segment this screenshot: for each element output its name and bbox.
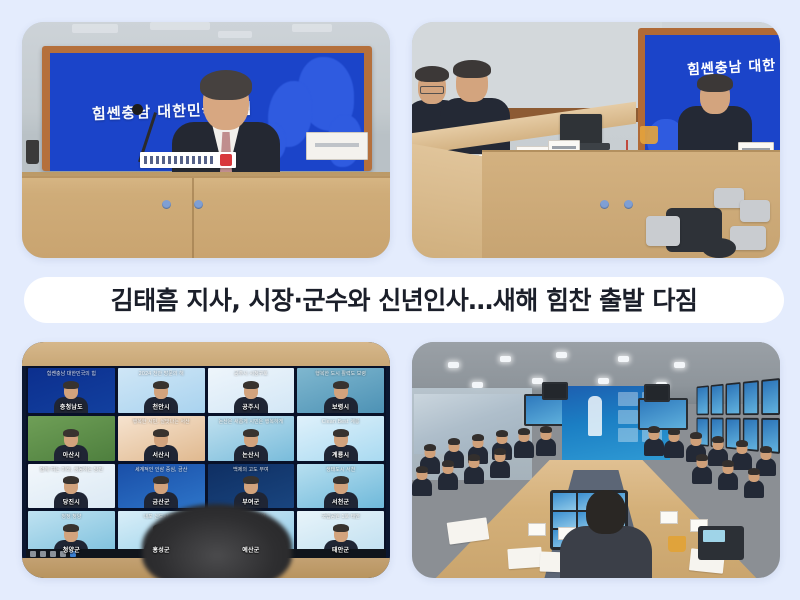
video-tile-label: 서산시 [153,450,170,459]
nameplate [306,132,368,160]
video-tile-label: 천안시 [153,402,170,411]
wall-trim-top [22,342,390,366]
nameplate [660,511,678,524]
desk-knob [162,200,171,209]
taskbar-icon[interactable] [50,551,56,557]
ceiling-panel [218,31,252,38]
video-tile-label: 아산시 [63,450,80,459]
video-tile[interactable]: 힘쎈충남 대한민국의 힘충청남도 [28,368,115,413]
video-tile-label: 예산군 [242,545,259,554]
attendee-figure [514,430,534,456]
video-tile-caption: 세계적인 인삼 중심, 금산 [121,466,202,473]
desk-seam [192,178,194,258]
video-tile-caption: 백제의 고도 부여 [211,466,292,473]
photo-meeting-room-side-content: 힘쎈충남 대한 [412,22,780,258]
display-tile [618,428,638,442]
hair [333,381,349,389]
hair [153,381,169,389]
video-tile[interactable]: 아산시 [28,416,115,461]
ceiling-panel [72,24,118,33]
video-tile-caption: 청정 청양 [31,513,112,520]
hair [243,476,259,484]
headline-banner: 김태흠 지사, 시장·군수와 신년인사…새해 힘찬 출발 다짐 [24,277,784,323]
video-tile-caption: 행복한 도시 활력도 보령 [300,370,381,377]
video-tile-caption: 생태도시 서천 [300,466,381,473]
video-tile-caption: 논산은 새롭게 시민은 행복하게 [211,418,292,425]
wall-monitor [697,385,709,414]
video-tile-caption: 공주시 시정구호 [211,370,292,377]
hair [153,429,169,437]
hair [333,524,349,532]
video-tile[interactable]: 논산은 새롭게 시민은 행복하게논산시 [208,416,295,461]
water-bottle [26,140,39,164]
document-paper [507,547,542,569]
display-figure [588,396,602,436]
hair [453,60,491,78]
ceiling-light [674,362,685,368]
hair [63,381,79,389]
hair [153,476,169,484]
video-tile[interactable]: 행복한 도시 활력도 보령보령시 [297,368,384,413]
ceiling-light [598,378,609,384]
photo-conference-hall-wide[interactable] [412,342,780,578]
ceiling-panel [150,22,210,30]
video-tile[interactable]: Clean Best 계룡계룡시 [297,416,384,461]
video-tile[interactable]: 함께 여는 미래, 생동하는 당진당진시 [28,464,115,509]
photo-meeting-room-side[interactable]: 힘쎈충남 대한 [412,22,780,258]
display-tile [618,392,638,406]
attendee-figure [718,462,738,488]
ceiling-light [448,362,459,368]
banner-seal [220,154,232,166]
desk-knob [600,200,609,209]
hair [63,524,79,532]
video-tile[interactable]: 생태도시 서천서천군 [297,464,384,509]
head [586,490,626,534]
video-tile-label: 서천군 [332,497,349,506]
foreground-attendee [560,490,652,578]
video-tile-label: 청양군 [63,545,80,554]
wall-monitor [644,384,670,402]
camera-equipment [644,182,776,256]
photo-governor-briefing[interactable]: 힘쎈충남 대한민국의 힘 [22,22,390,258]
hair [243,381,259,389]
attendee-figure [744,470,764,496]
attendee-figure [536,428,556,454]
wall-monitor [542,382,568,400]
video-tile-caption: 힘쎈충남 대한민국의 힘 [31,370,112,377]
nameplate [528,523,546,536]
photo-governor-briefing-content: 힘쎈충남 대한민국의 힘 [22,22,390,258]
video-tile-label: 공주시 [242,402,259,411]
microphone-head [132,104,143,115]
hair [243,429,259,437]
wall-monitor [710,384,723,415]
wall-monitor [762,378,780,415]
photo-video-conference-wall[interactable]: 힘쎈충남 대한민국의 힘충청남도2024 천안 방문의 해천안시공주시 시정구호… [22,342,390,578]
video-tile-label: 충청남도 [60,402,83,411]
photo-conference-hall-wide-content [412,342,780,578]
video-tile-label: 계룡시 [332,450,349,459]
video-tile[interactable]: 공주시 시정구호공주시 [208,368,295,413]
desk-knob [194,200,203,209]
equipment-case [646,216,680,246]
hair [333,476,349,484]
side-display [638,398,688,430]
wall-monitor [726,382,741,415]
video-tile[interactable]: 세계적인 인삼 중심, 금산금산군 [118,464,205,509]
attendee-figure [464,456,484,482]
hair [333,429,349,437]
page-root: 힘쎈충남 대한민국의 힘 [0,0,800,600]
attendee-figure [490,450,510,476]
hair [63,476,79,484]
display-tile [618,410,638,424]
desk-banner [140,152,236,168]
wall-monitor [743,380,759,415]
video-tile-label: 부여군 [242,497,259,506]
video-tile-label: 논산시 [242,450,259,459]
conference-hall-background [412,342,780,578]
attendee-figure [438,462,458,488]
attendee-figure [644,428,664,454]
video-tile[interactable]: 2024 천안 방문의 해천안시 [118,368,205,413]
beverage-mug [668,536,686,552]
video-tile-label: 보령시 [332,402,349,411]
video-tile[interactable]: 백제의 고도 부여부여군 [208,464,295,509]
headline-text: 김태흠 지사, 시장·군수와 신년인사…새해 힘찬 출발 다짐 [111,288,698,313]
desk-knob [624,200,633,209]
ceiling-panel [292,24,332,32]
attendee-figure [412,468,432,494]
desk-phone [698,526,744,560]
ceiling-light [618,356,629,362]
video-tile-label: 당진시 [63,497,80,506]
ceiling-light [556,352,567,358]
hair [200,70,252,100]
video-tile-caption: Clean Best 계룡 [300,418,381,425]
podium-desk [22,176,390,258]
video-tile-label: 금산군 [153,497,170,506]
video-tile-caption: 2024 천안 방문의 해 [121,370,202,377]
video-tile-caption: 행복한 시민, 살맛나는 서산 [121,418,202,425]
attendee-figure [692,456,712,482]
photo-video-conference-wall-content: 힘쎈충남 대한민국의 힘충청남도2024 천안 방문의 해천안시공주시 시정구호… [22,342,390,578]
video-tile[interactable]: 행복한 시민, 살맛나는 서산서산시 [118,416,205,461]
taskbar-icon[interactable] [30,551,36,557]
taskbar-icon[interactable] [40,551,46,557]
equipment-case [740,200,770,222]
video-wall-background: 힘쎈충남 대한민국의 힘충청남도2024 천안 방문의 해천안시공주시 시정구호… [22,342,390,578]
video-tile-caption: 국립공원 1호 태안 [300,513,381,520]
hair [63,429,79,437]
lens [702,238,736,258]
video-tile-label: 홍성군 [153,545,170,554]
video-tile-label: 태안군 [332,545,349,554]
hair [697,74,733,92]
attendee-figure [664,430,684,456]
video-tile-caption: 함께 여는 미래, 생동하는 당진 [31,466,112,473]
ceiling-light [500,356,511,362]
